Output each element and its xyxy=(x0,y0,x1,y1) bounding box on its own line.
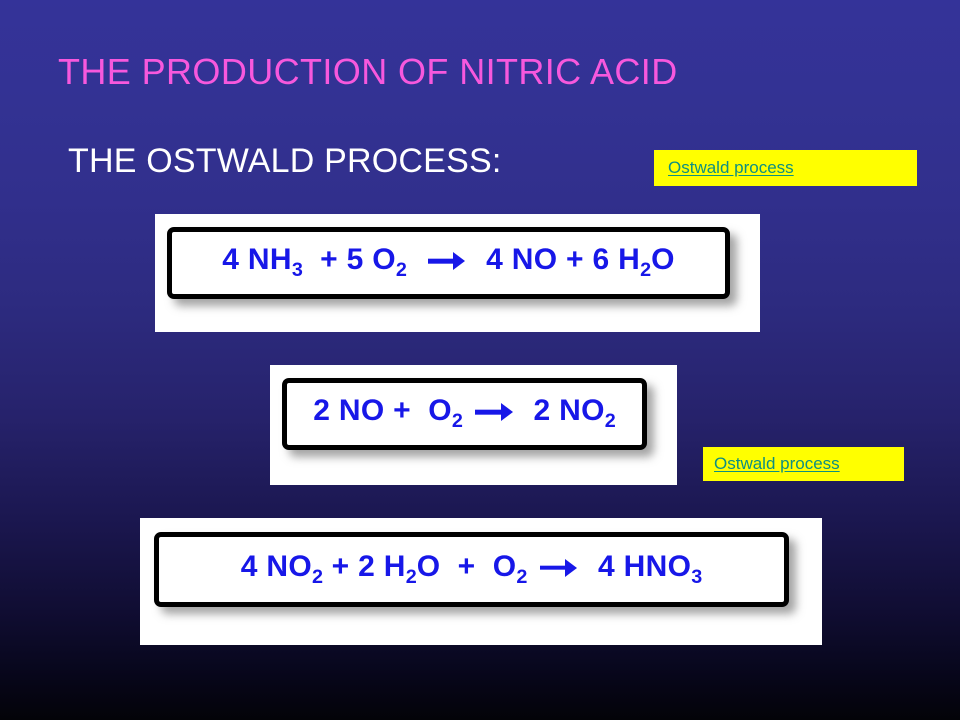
ostwald-process-link-top[interactable]: Ostwald process xyxy=(654,150,917,186)
eq2-plus-1: + xyxy=(393,394,411,427)
slide: THE PRODUCTION OF NITRIC ACID THE OSTWAL… xyxy=(0,0,960,720)
reaction-arrow-icon xyxy=(428,252,466,271)
equation-image-1: 4 NH3 + 5 O2 4 NO + 6 H2O xyxy=(155,214,760,332)
eq1-coefficient-3: 4 xyxy=(486,243,503,276)
slide-subtitle: THE OSTWALD PROCESS: xyxy=(68,143,501,180)
eq1-formula-1: NH xyxy=(248,243,292,276)
eq1-formula-3: NO xyxy=(512,243,558,276)
eq3-subscript-3: 2 xyxy=(516,566,527,588)
equation-3-text: 4 NO2 + 2 H2O + O2 4 HNO3 xyxy=(241,552,703,588)
eq2-subscript-2: 2 xyxy=(452,410,463,432)
eq1-plus-2: + xyxy=(566,243,584,276)
eq2-formula-3: NO xyxy=(559,394,605,427)
eq1-subscript-4: 2 xyxy=(640,259,651,281)
eq1-subscript-2: 2 xyxy=(396,259,407,281)
eq3-coefficient-4: 4 xyxy=(598,550,615,583)
equation-image-2: 2 NO + O2 2 NO2 xyxy=(270,365,677,485)
equation-box-2: 2 NO + O2 2 NO2 xyxy=(282,378,647,450)
eq3-plus-2: + xyxy=(458,550,476,583)
eq2-coefficient-3: 2 xyxy=(534,394,551,427)
eq3-formula-1: NO xyxy=(266,550,312,583)
eq1-formula-2: O xyxy=(372,243,396,276)
eq3-formula-4: HNO xyxy=(624,550,692,583)
eq3-coefficient-1: 4 xyxy=(241,550,258,583)
eq2-coefficient-1: 2 xyxy=(313,394,330,427)
ostwald-process-link-middle[interactable]: Ostwald process xyxy=(703,447,904,481)
equation-2-text: 2 NO + O2 2 NO2 xyxy=(313,396,616,432)
eq1-coefficient-1: 4 xyxy=(222,243,239,276)
link-label[interactable]: Ostwald process xyxy=(714,454,840,474)
eq2-formula-2: O xyxy=(428,394,452,427)
eq1-formula-4: H xyxy=(618,243,640,276)
eq3-formula-3: O xyxy=(493,550,517,583)
eq3-formula-2: H xyxy=(384,550,406,583)
eq2-subscript-3: 2 xyxy=(605,410,616,432)
reaction-arrow-icon xyxy=(540,558,578,577)
eq3-subscript-1: 2 xyxy=(312,566,323,588)
eq3-tail-2: O xyxy=(417,550,441,583)
eq1-coefficient-4: 6 xyxy=(592,243,609,276)
eq3-coefficient-2: 2 xyxy=(358,550,375,583)
eq3-subscript-2: 2 xyxy=(406,566,417,588)
equation-image-3: 4 NO2 + 2 H2O + O2 4 HNO3 xyxy=(140,518,822,645)
eq1-tail-4: O xyxy=(651,243,675,276)
eq1-subscript-1: 3 xyxy=(292,259,303,281)
eq1-coefficient-2: 5 xyxy=(347,243,364,276)
eq2-formula-1: NO xyxy=(339,394,385,427)
equation-box-3: 4 NO2 + 2 H2O + O2 4 HNO3 xyxy=(154,532,789,607)
eq1-plus-1: + xyxy=(320,243,338,276)
equation-1-text: 4 NH3 + 5 O2 4 NO + 6 H2O xyxy=(222,245,675,281)
link-label[interactable]: Ostwald process xyxy=(668,158,794,178)
eq3-subscript-4: 3 xyxy=(691,566,702,588)
eq3-plus-1: + xyxy=(332,550,350,583)
page-title: THE PRODUCTION OF NITRIC ACID xyxy=(58,52,678,92)
equation-box-1: 4 NH3 + 5 O2 4 NO + 6 H2O xyxy=(167,227,730,299)
reaction-arrow-icon xyxy=(475,403,513,422)
